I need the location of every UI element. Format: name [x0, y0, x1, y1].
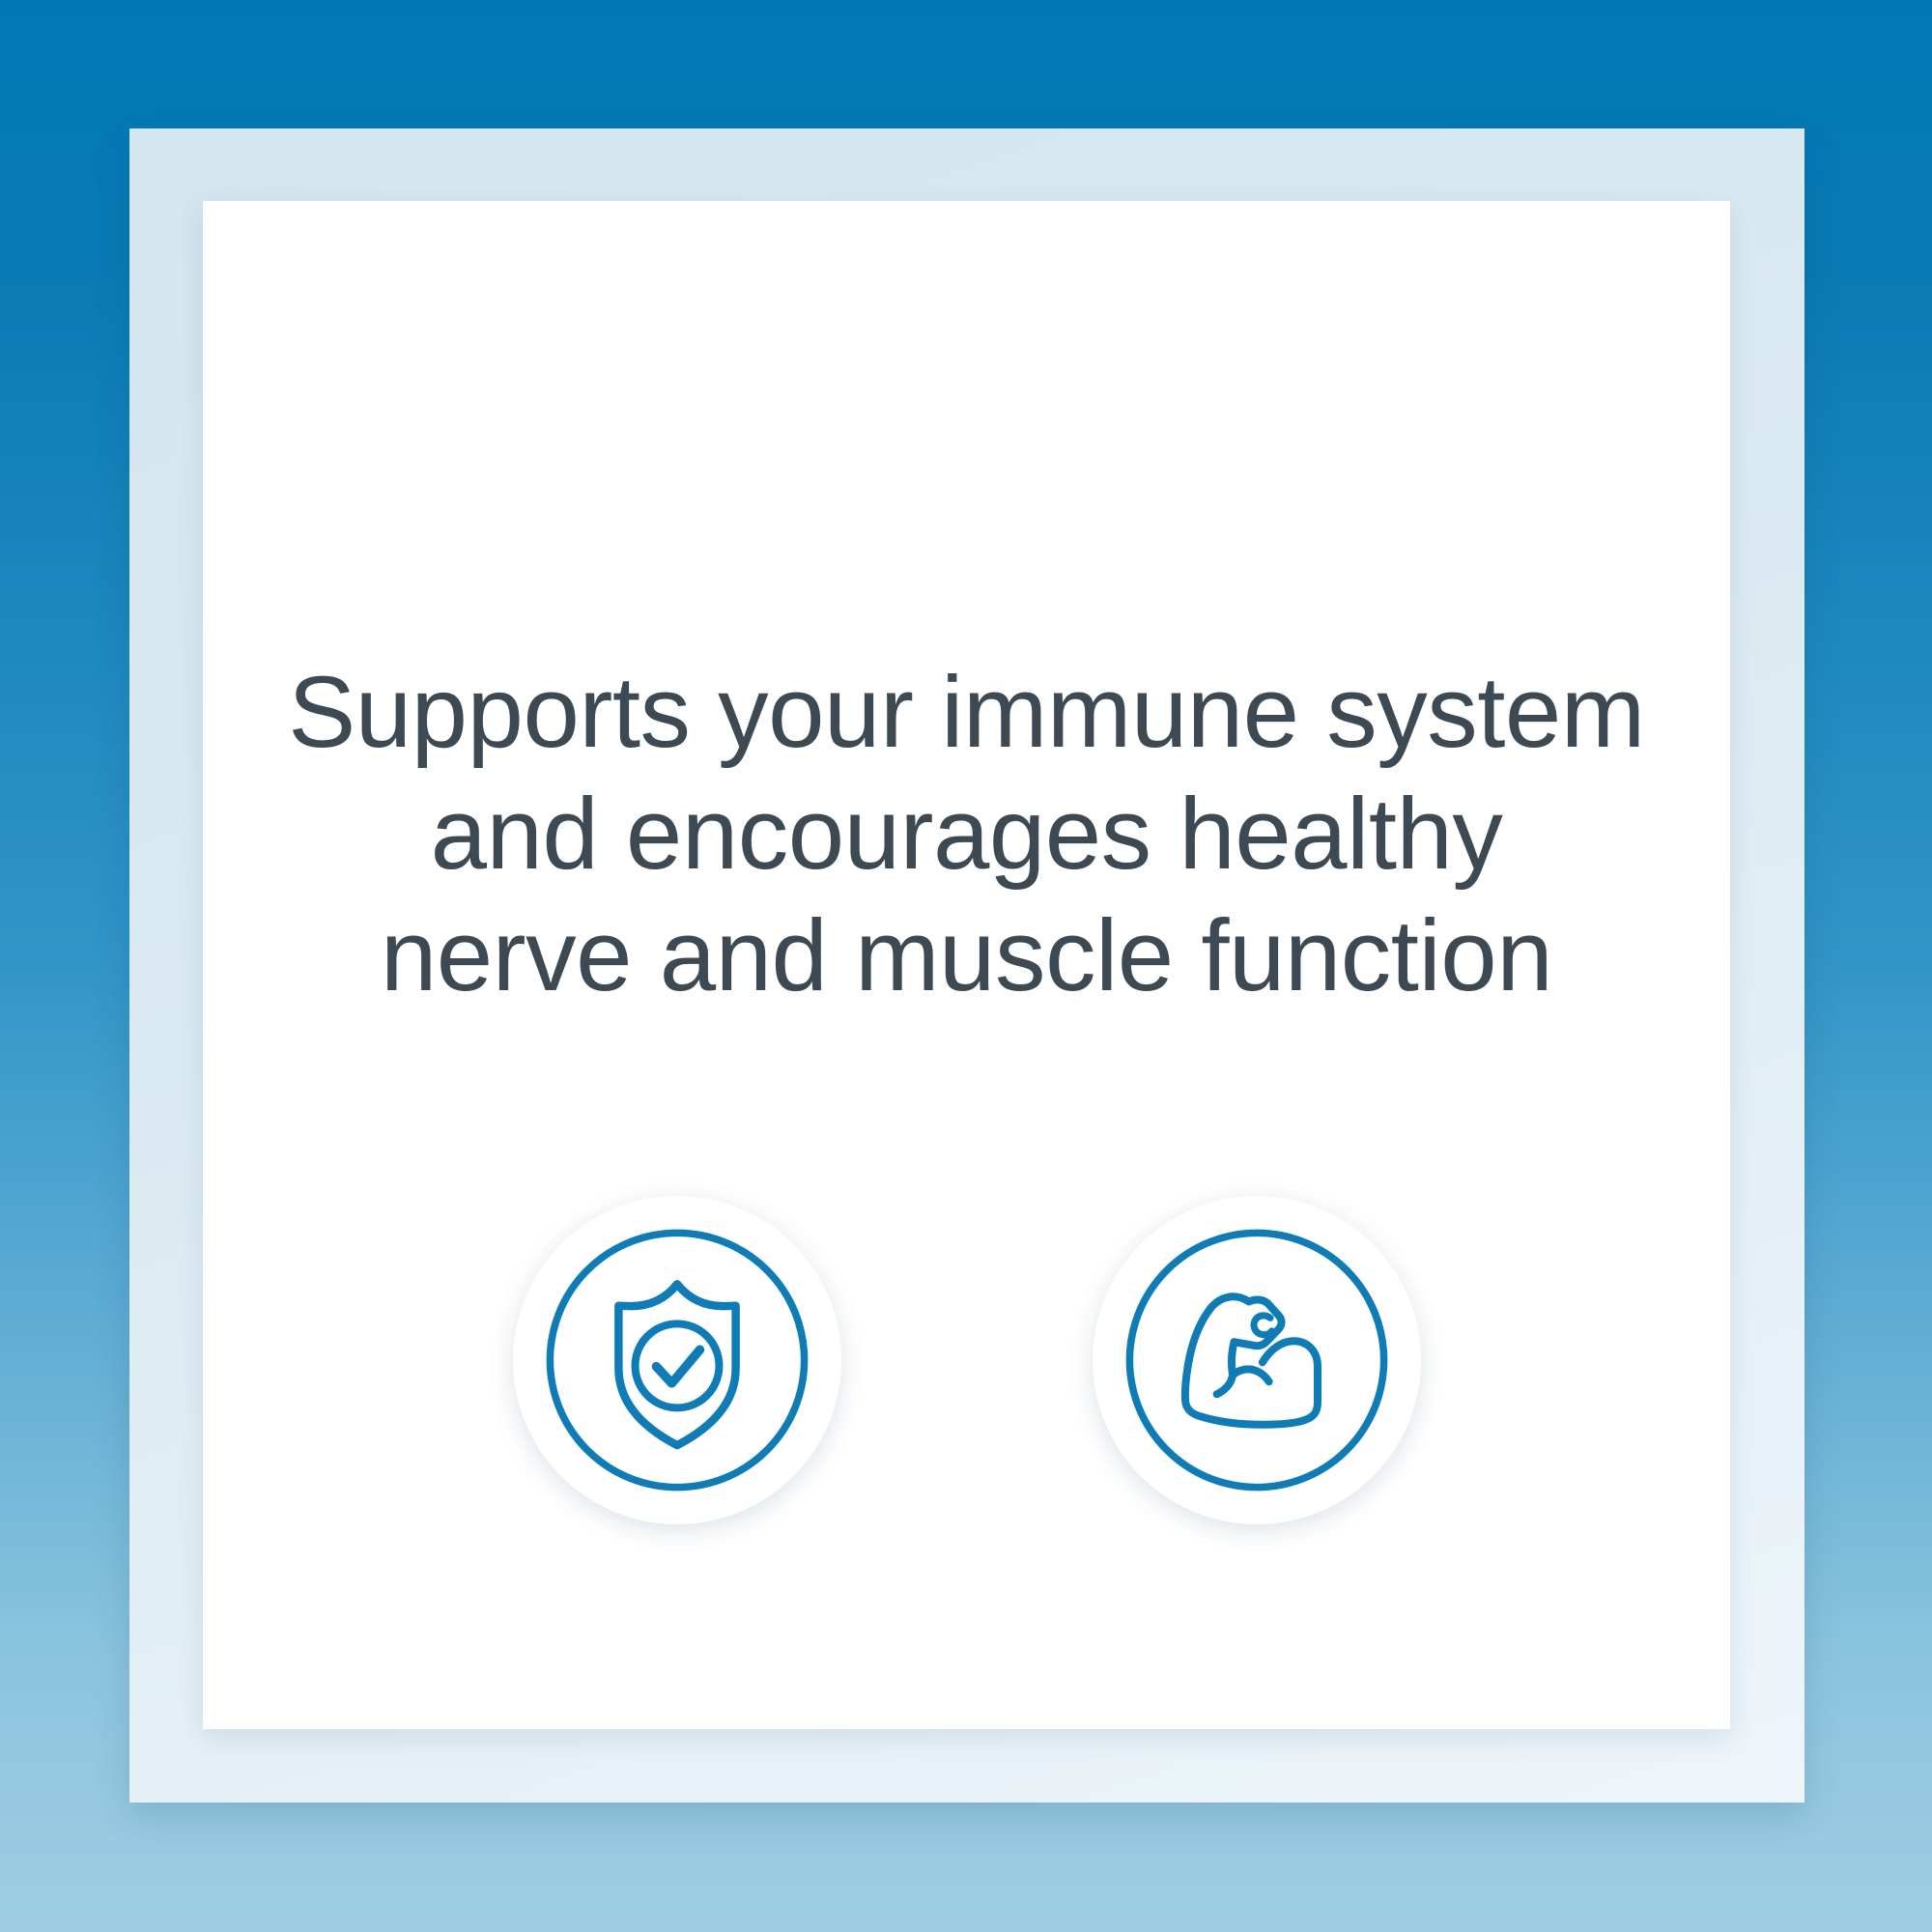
shield-check-badge [513, 1196, 841, 1524]
headline-text: Supports your immune system and encourag… [281, 652, 1653, 1017]
flexed-bicep-badge [1093, 1196, 1421, 1524]
outer-frame: Supports your immune system and encourag… [129, 128, 1804, 1803]
flexed-bicep-icon [1121, 1224, 1393, 1496]
content-card: Supports your immune system and encourag… [203, 201, 1730, 1729]
shield-check-icon [541, 1224, 813, 1496]
icon-row [513, 1196, 1421, 1524]
